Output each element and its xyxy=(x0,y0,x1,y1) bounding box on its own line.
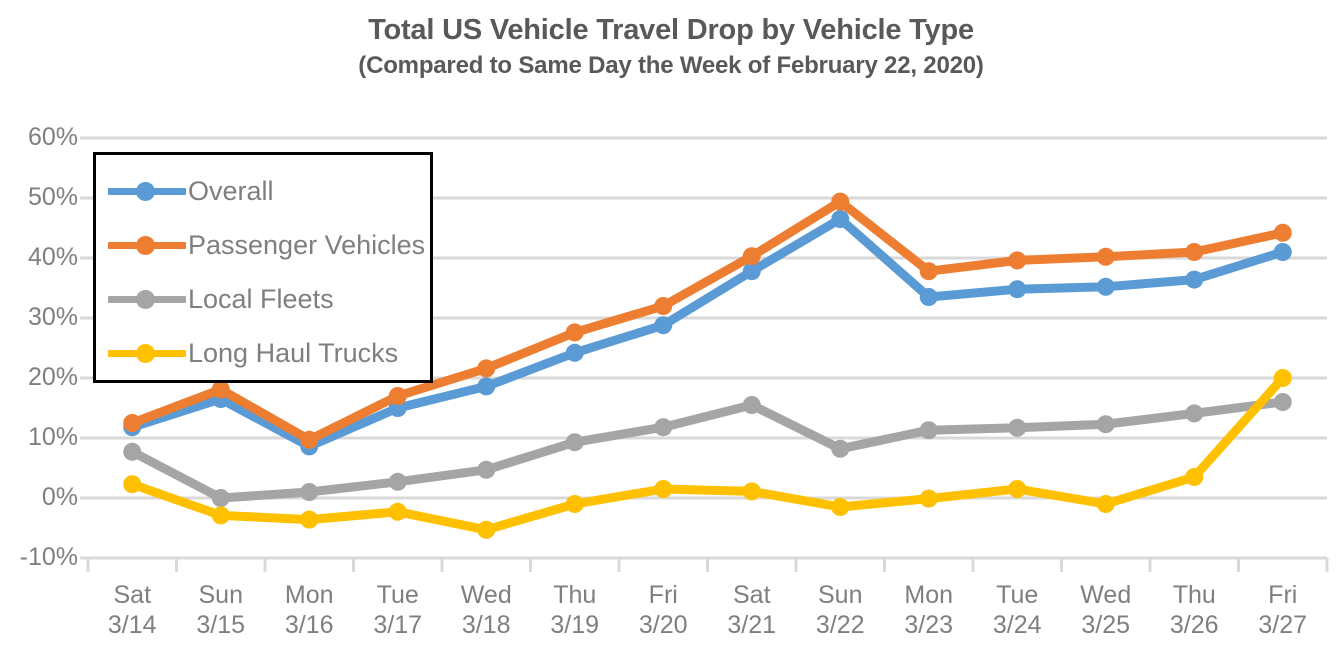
x-label-date: 3/16 xyxy=(265,610,354,640)
x-axis-tick-label: Fri3/20 xyxy=(619,580,708,640)
x-label-day: Mon xyxy=(285,581,334,609)
x-axis-tick-label: Sat3/21 xyxy=(708,580,797,640)
x-label-day: Sat xyxy=(733,581,771,609)
x-label-date: 3/25 xyxy=(1062,610,1151,640)
x-label-date: 3/22 xyxy=(796,610,885,640)
legend-dot-swatch xyxy=(136,344,155,363)
legend-item[interactable]: Overall xyxy=(96,165,436,217)
x-label-day: Sun xyxy=(818,581,862,609)
x-axis-tick-label: Mon3/16 xyxy=(265,580,354,640)
x-axis-tick-label: Mon3/23 xyxy=(885,580,974,640)
x-label-date: 3/17 xyxy=(354,610,443,640)
x-label-day: Wed xyxy=(1080,581,1131,609)
x-label-date: 3/21 xyxy=(708,610,797,640)
x-label-date: 3/27 xyxy=(1239,610,1328,640)
legend-marker-icon xyxy=(108,286,186,312)
x-axis-tick-label: Tue3/17 xyxy=(354,580,443,640)
legend-dot-swatch xyxy=(136,290,155,309)
x-axis-tick-label: Thu3/26 xyxy=(1150,580,1239,640)
x-label-date: 3/23 xyxy=(885,610,974,640)
x-label-day: Sat xyxy=(113,581,151,609)
chart-container: Total US Vehicle Travel Drop by Vehicle … xyxy=(0,0,1342,652)
legend-marker-icon xyxy=(108,232,186,258)
x-label-day: Tue xyxy=(377,581,419,609)
x-label-date: 3/24 xyxy=(973,610,1062,640)
x-label-day: Thu xyxy=(1173,581,1216,609)
legend-marker-icon xyxy=(108,340,186,366)
x-label-day: Sun xyxy=(199,581,243,609)
x-label-date: 3/20 xyxy=(619,610,708,640)
x-label-day: Thu xyxy=(553,581,596,609)
legend-label: Overall xyxy=(188,176,274,206)
legend-item[interactable]: Passenger Vehicles xyxy=(96,219,436,271)
x-axis-tick-label: Tue3/24 xyxy=(973,580,1062,640)
x-axis-tick-label: Sat3/14 xyxy=(88,580,177,640)
x-label-day: Mon xyxy=(904,581,953,609)
legend-item[interactable]: Long Haul Trucks xyxy=(96,327,436,379)
x-label-day: Tue xyxy=(996,581,1038,609)
x-axis-tick-label: Thu3/19 xyxy=(531,580,620,640)
chart-legend[interactable]: OverallPassenger VehiclesLocal FleetsLon… xyxy=(93,152,433,383)
legend-marker-icon xyxy=(108,178,186,204)
legend-label: Long Haul Trucks xyxy=(188,338,398,368)
x-axis-tick-label: Fri3/27 xyxy=(1239,580,1328,640)
x-label-date: 3/18 xyxy=(442,610,531,640)
legend-label: Passenger Vehicles xyxy=(188,230,425,260)
x-axis-tick-label: Sun3/22 xyxy=(796,580,885,640)
x-axis-tick-label: Wed3/18 xyxy=(442,580,531,640)
legend-item[interactable]: Local Fleets xyxy=(96,273,436,325)
legend-dot-swatch xyxy=(136,236,155,255)
x-label-date: 3/26 xyxy=(1150,610,1239,640)
x-label-day: Fri xyxy=(1268,581,1297,609)
x-label-date: 3/15 xyxy=(177,610,266,640)
x-label-date: 3/19 xyxy=(531,610,620,640)
legend-label: Local Fleets xyxy=(188,284,334,314)
x-label-date: 3/14 xyxy=(88,610,177,640)
x-axis-tick-label: Wed3/25 xyxy=(1062,580,1151,640)
x-label-day: Wed xyxy=(461,581,512,609)
legend-dot-swatch xyxy=(136,182,155,201)
x-label-day: Fri xyxy=(649,581,678,609)
x-axis-tick-label: Sun3/15 xyxy=(177,580,266,640)
